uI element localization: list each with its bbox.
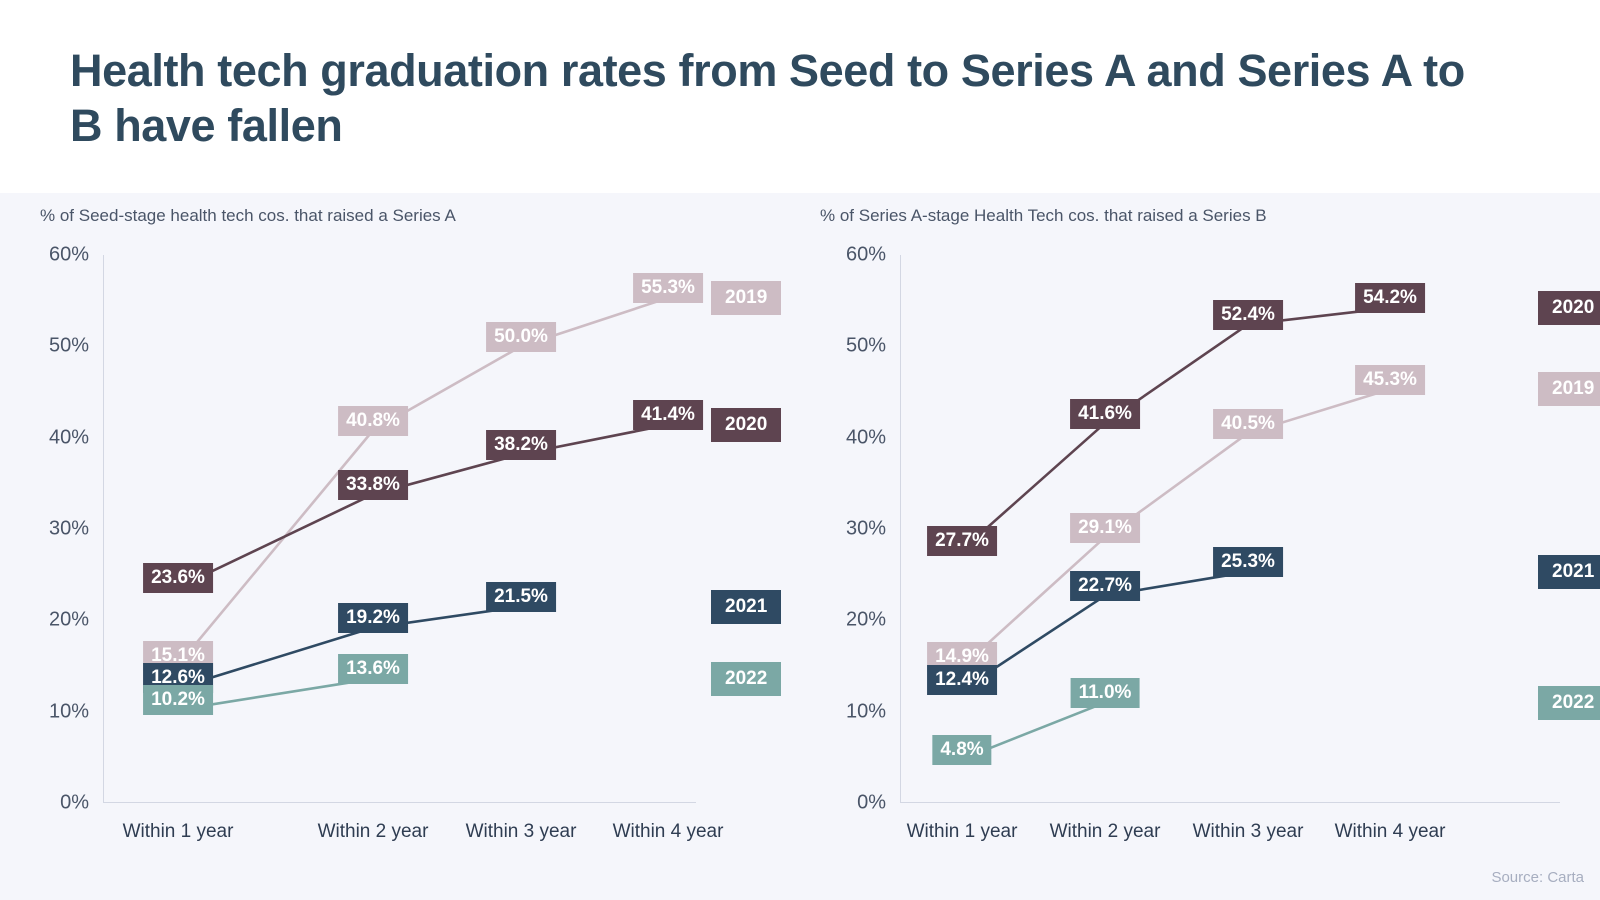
data-label-2020-0: 23.6% <box>143 563 213 593</box>
series-lines <box>900 255 1560 803</box>
charts-board: % of Seed-stage health tech cos. that ra… <box>0 193 1600 900</box>
line-series-2020 <box>962 308 1390 550</box>
line-series-2019 <box>962 389 1390 667</box>
data-label-2020-3: 54.2% <box>1355 283 1425 313</box>
y-axis-tick-label: 50% <box>49 335 89 358</box>
data-label-2021-1: 22.7% <box>1070 571 1140 601</box>
x-axis-tick-label: Within 3 year <box>1193 821 1304 843</box>
y-axis-tick-label: 0% <box>857 792 886 815</box>
data-label-2022-0: 4.8% <box>932 735 991 765</box>
data-label-2022-1: 11.0% <box>1071 678 1140 708</box>
y-axis-tick-label: 40% <box>846 426 886 449</box>
y-axis-tick-label: 60% <box>49 244 89 267</box>
y-axis-tick-label: 20% <box>49 609 89 632</box>
legend-chip-2019[interactable]: 2019 <box>711 281 781 315</box>
plot-area-right: 0%10%20%30%40%50%60%Within 1 yearWithin … <box>900 255 1560 803</box>
data-label-2020-1: 41.6% <box>1070 399 1140 429</box>
data-label-2019-1: 40.8% <box>338 406 408 436</box>
data-label-2021-1: 19.2% <box>338 603 408 633</box>
data-label-2020-3: 41.4% <box>633 400 703 430</box>
y-axis-tick-label: 30% <box>846 518 886 541</box>
data-label-2021-2: 21.5% <box>486 582 556 612</box>
data-label-2020-0: 27.7% <box>927 526 997 556</box>
data-label-2021-0: 12.4% <box>927 665 997 695</box>
y-axis-tick-label: 40% <box>49 426 89 449</box>
panel-subtitle: % of Series A-stage Health Tech cos. tha… <box>820 206 1267 226</box>
x-axis-tick-label: Within 4 year <box>613 821 724 843</box>
data-label-2022-0: 10.2% <box>143 685 213 715</box>
legend-chip-2020[interactable]: 2020 <box>1538 291 1600 325</box>
y-axis-tick-label: 0% <box>60 792 89 815</box>
x-axis-tick-label: Within 1 year <box>907 821 1018 843</box>
data-label-2021-2: 25.3% <box>1213 547 1283 577</box>
chart-panel-seed-to-series-a: % of Seed-stage health tech cos. that ra… <box>0 193 800 900</box>
legend-chip-2022[interactable]: 2022 <box>711 662 781 696</box>
x-axis-tick-label: Within 3 year <box>466 821 577 843</box>
x-axis-tick-label: Within 2 year <box>1050 821 1161 843</box>
data-label-2019-1: 29.1% <box>1070 513 1140 543</box>
panel-subtitle: % of Seed-stage health tech cos. that ra… <box>40 206 456 226</box>
data-label-2019-3: 55.3% <box>633 273 703 303</box>
page-title: Health tech graduation rates from Seed t… <box>70 44 1490 154</box>
plot-area-left: 0%10%20%30%40%50%60%Within 1 yearWithin … <box>103 255 696 803</box>
series-lines <box>103 255 696 803</box>
legend-chip-2021[interactable]: 2021 <box>1538 555 1600 589</box>
y-axis-tick-label: 60% <box>846 244 886 267</box>
data-label-2020-1: 33.8% <box>338 470 408 500</box>
data-label-2019-2: 40.5% <box>1213 409 1283 439</box>
legend-chip-2021[interactable]: 2021 <box>711 590 781 624</box>
y-axis-tick-label: 50% <box>846 335 886 358</box>
x-axis-tick-label: Within 1 year <box>123 821 234 843</box>
data-label-2020-2: 52.4% <box>1213 300 1283 330</box>
data-label-2022-1: 13.6% <box>338 654 408 684</box>
infographic-root: Health tech graduation rates from Seed t… <box>0 0 1600 900</box>
x-axis-tick-label: Within 2 year <box>318 821 429 843</box>
chart-panel-series-a-to-b: % of Series A-stage Health Tech cos. tha… <box>800 193 1600 900</box>
y-axis-tick-label: 10% <box>49 700 89 723</box>
y-axis-tick-label: 10% <box>846 700 886 723</box>
legend-chip-2022[interactable]: 2022 <box>1538 686 1600 720</box>
legend-chip-2019[interactable]: 2019 <box>1538 372 1600 406</box>
data-label-2019-3: 45.3% <box>1355 365 1425 395</box>
data-label-2019-2: 50.0% <box>486 322 556 352</box>
source-attribution: Source: Carta <box>1491 869 1584 886</box>
header: Health tech graduation rates from Seed t… <box>0 0 1600 193</box>
legend-chip-2020[interactable]: 2020 <box>711 408 781 442</box>
line-series-2020 <box>178 425 668 588</box>
y-axis-tick-label: 30% <box>49 518 89 541</box>
x-axis-tick-label: Within 4 year <box>1335 821 1446 843</box>
data-label-2020-2: 38.2% <box>486 430 556 460</box>
y-axis-tick-label: 20% <box>846 609 886 632</box>
